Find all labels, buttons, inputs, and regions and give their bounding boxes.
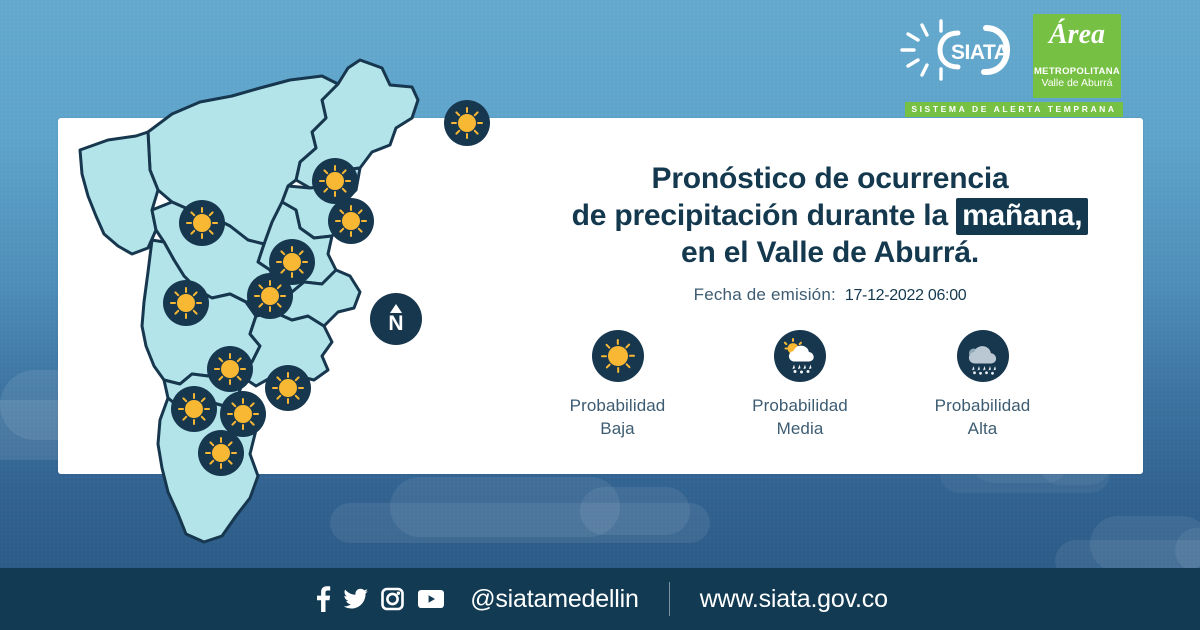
valle-de-aburra-map: N — [60, 40, 420, 560]
sun-icon — [198, 430, 244, 476]
sun-ray — [231, 402, 237, 408]
rain-cloud-icon — [957, 330, 1009, 382]
sun-ray — [269, 306, 271, 312]
title-line-1: Pronóstico de ocurrencia — [520, 160, 1140, 197]
sun-ray — [323, 187, 329, 193]
sun-ray — [227, 413, 233, 415]
title-line-3: en el Valle de Aburrá. — [520, 234, 1140, 271]
sun-ray — [298, 268, 304, 274]
sun-ray — [258, 284, 264, 290]
issue-date-label: Fecha de emisión: — [694, 285, 836, 304]
facebook-icon[interactable] — [312, 585, 332, 613]
sun-ray — [249, 402, 255, 408]
sun-ray — [178, 408, 184, 410]
sun-ray — [236, 357, 242, 363]
sun-ray — [357, 227, 363, 233]
footer-divider — [669, 582, 670, 616]
sun-ray — [227, 459, 233, 465]
compass-label: N — [370, 313, 422, 334]
sun-ray — [231, 420, 237, 426]
legend-label-media-line1: Probabilidad — [713, 394, 888, 417]
sun-ray — [466, 107, 468, 113]
sun-rain-cloud-icon — [774, 330, 826, 382]
sun-ray — [182, 397, 188, 403]
sun-ray — [208, 211, 214, 217]
sun-icon — [592, 330, 644, 382]
sun-ray — [276, 376, 282, 382]
sun-core — [608, 346, 628, 366]
siata-tagline: SISTEMA DE ALERTA TEMPRANA — [905, 102, 1123, 117]
station-pin-envigado — [265, 365, 311, 411]
sun-ray — [276, 302, 282, 308]
sun-ray — [334, 191, 336, 197]
sun-ray — [302, 261, 308, 263]
station-pin-barbosa — [444, 100, 490, 146]
sun-ray — [253, 413, 259, 415]
sun-ray — [276, 394, 282, 400]
sun-ray — [298, 250, 304, 256]
sun-icon — [444, 100, 490, 146]
station-pin-san-pedro — [179, 200, 225, 246]
area-logo-word: Área — [1033, 20, 1121, 50]
sun-ray — [227, 441, 233, 447]
legend-item-baja: Probabilidad Baja — [530, 330, 705, 440]
sun-ray — [294, 376, 300, 382]
social-icons — [312, 585, 446, 613]
sun-ray — [269, 280, 271, 286]
sun-ray — [220, 463, 222, 469]
issue-date-value: 17-12-2022 06:00 — [845, 287, 967, 304]
sun-ray — [350, 231, 352, 237]
logo-group: SIATA Área METROPOLITANA Valle de Aburrá… — [900, 14, 1128, 114]
sun-ray — [280, 295, 286, 297]
sun-icon — [163, 280, 209, 326]
sun-ray — [212, 222, 218, 224]
sun-icon — [171, 386, 217, 432]
sun-ray — [192, 291, 198, 297]
compass-north-icon: N — [370, 293, 422, 345]
sun-ray — [298, 387, 304, 389]
station-pin-medellin-norte — [247, 273, 293, 319]
sun-ray — [200, 397, 206, 403]
twitter-icon[interactable] — [343, 585, 369, 613]
social-handle[interactable]: @siatamedellin — [470, 585, 639, 614]
sun-ray — [339, 227, 345, 233]
sun-ray — [357, 209, 363, 215]
station-pin-caldas — [198, 430, 244, 476]
sun-ray — [294, 394, 300, 400]
sun-ray — [190, 229, 196, 235]
title-line-2: de precipitación durante la mañana, — [520, 197, 1140, 234]
legend-item-alta: Probabilidad Alta — [895, 330, 1070, 440]
sun-icon — [179, 200, 225, 246]
legend-label-alta-line1: Probabilidad — [895, 394, 1070, 417]
legend-label-media-line2: Media — [713, 417, 888, 440]
legend-label-baja-line1: Probabilidad — [530, 394, 705, 417]
website-url[interactable]: www.siata.gov.co — [700, 585, 888, 614]
sun-ray — [229, 353, 231, 359]
sun-ray — [276, 284, 282, 290]
sun-ray — [182, 415, 188, 421]
sun-ray — [334, 165, 336, 171]
sun-ray — [201, 207, 203, 213]
infographic-root: N Pronóstico de ocurrencia de precipitac… — [0, 0, 1200, 630]
municipality-san-pedro — [80, 132, 158, 254]
sun-ray — [477, 122, 483, 124]
station-pin-itagui — [171, 386, 217, 432]
sun-ray — [341, 187, 347, 193]
station-pin-medellin-centro — [163, 280, 209, 326]
sun-icon — [265, 365, 311, 411]
sun-ray — [361, 220, 367, 222]
sun-ray — [466, 133, 468, 139]
sun-ray — [455, 111, 461, 117]
sun-ray — [240, 368, 246, 370]
sun-ray — [287, 398, 289, 404]
station-pin-copacabana — [328, 198, 374, 244]
youtube-icon[interactable] — [416, 585, 446, 613]
sun-ray — [196, 302, 202, 304]
sun-ray — [242, 398, 244, 404]
sun-ray — [174, 291, 180, 297]
sun-ray — [455, 129, 461, 135]
sun-ray — [193, 393, 195, 399]
legend-label-media: Probabilidad Media — [713, 394, 888, 440]
sun-ray — [451, 122, 457, 124]
sun-ray — [254, 295, 260, 297]
sun-ray — [190, 211, 196, 217]
sun-ray — [204, 408, 210, 410]
area-metropolitana-logo: Área METROPOLITANA Valle de Aburrá — [1033, 14, 1121, 98]
sun-ray — [209, 459, 215, 465]
svg-text:SIATA: SIATA — [951, 41, 1009, 64]
legend-label-alta-line2: Alta — [895, 417, 1070, 440]
sun-ray — [208, 229, 214, 235]
sun-icon — [328, 198, 374, 244]
sun-ray — [205, 452, 211, 454]
sun-ray — [473, 129, 479, 135]
sun-ray — [193, 419, 195, 425]
sun-ray — [170, 302, 176, 304]
sun-ray — [249, 420, 255, 426]
sun-ray — [258, 302, 264, 308]
forecast-panel: Pronóstico de ocurrencia de precipitació… — [520, 160, 1140, 305]
sun-ray — [272, 387, 278, 389]
sun-ray — [231, 452, 237, 454]
sun-ray — [323, 169, 329, 175]
sun-ray — [350, 205, 352, 211]
area-logo-sub1: METROPOLITANA — [1033, 66, 1121, 77]
sun-ray — [280, 250, 286, 256]
sun-ray — [291, 246, 293, 252]
title-line-2-text: de precipitación durante la — [572, 199, 948, 232]
sun-ray — [218, 357, 224, 363]
sun-ray — [473, 111, 479, 117]
sun-ray — [214, 368, 220, 370]
siata-tagline-banner: SISTEMA DE ALERTA TEMPRANA — [905, 102, 1123, 117]
sun-ray — [335, 220, 341, 222]
legend-item-media: Probabilidad Media — [713, 330, 888, 440]
sun-ray — [200, 415, 206, 421]
sun-ray — [186, 222, 192, 224]
instagram-icon[interactable] — [380, 585, 405, 613]
sun-ray — [339, 209, 345, 215]
probability-legend: Probabilidad Baja — [500, 330, 1100, 440]
sun-ray — [209, 441, 215, 447]
legend-label-baja-line2: Baja — [530, 417, 705, 440]
page-title: Pronóstico de ocurrencia de precipitació… — [520, 160, 1140, 271]
sun-ray — [319, 180, 325, 182]
sun-ray — [201, 233, 203, 239]
legend-label-alta: Probabilidad Alta — [895, 394, 1070, 440]
siata-logo: SIATA — [900, 16, 1025, 86]
sun-ray — [185, 313, 187, 319]
issue-date: Fecha de emisión: 17-12-2022 06:00 — [520, 285, 1140, 305]
sun-ray — [345, 180, 351, 182]
sun-ray — [220, 437, 222, 443]
sun-ray — [174, 309, 180, 315]
sun-ray — [185, 287, 187, 293]
sun-ray — [229, 379, 231, 385]
footer-bar: @siatamedellin www.siata.gov.co — [0, 568, 1200, 630]
sun-ray — [192, 309, 198, 315]
sun-ray — [276, 261, 282, 263]
sun-ray — [236, 375, 242, 381]
legend-label-baja: Probabilidad Baja — [530, 394, 705, 440]
sun-icon — [247, 273, 293, 319]
title-highlight-mañana: mañana, — [956, 198, 1088, 235]
sun-ray — [287, 372, 289, 378]
sun-ray — [341, 169, 347, 175]
sun-ray — [218, 375, 224, 381]
area-logo-sub2: Valle de Aburrá — [1033, 77, 1121, 89]
